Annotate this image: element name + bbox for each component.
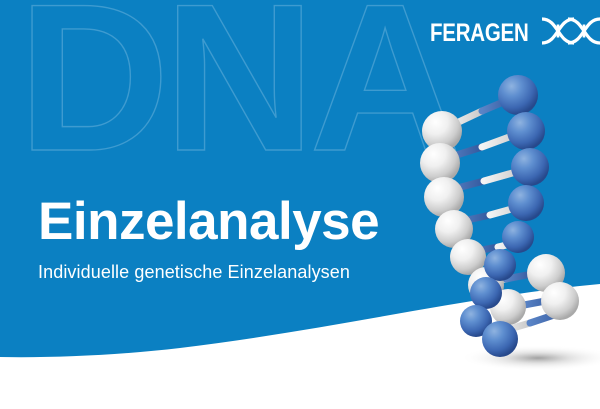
page-subtitle: Individuelle genetische Einzelanalysen: [38, 261, 350, 283]
dna-product-banner: DNA FERAGEN Einzelanalyse Individuelle g…: [0, 0, 600, 409]
brand-logo[interactable]: FERAGEN: [430, 18, 600, 48]
dna-helix-icon: [538, 16, 600, 51]
brand-logo-text: FERAGEN: [430, 21, 529, 46]
page-title: Einzelanalyse: [38, 193, 379, 251]
